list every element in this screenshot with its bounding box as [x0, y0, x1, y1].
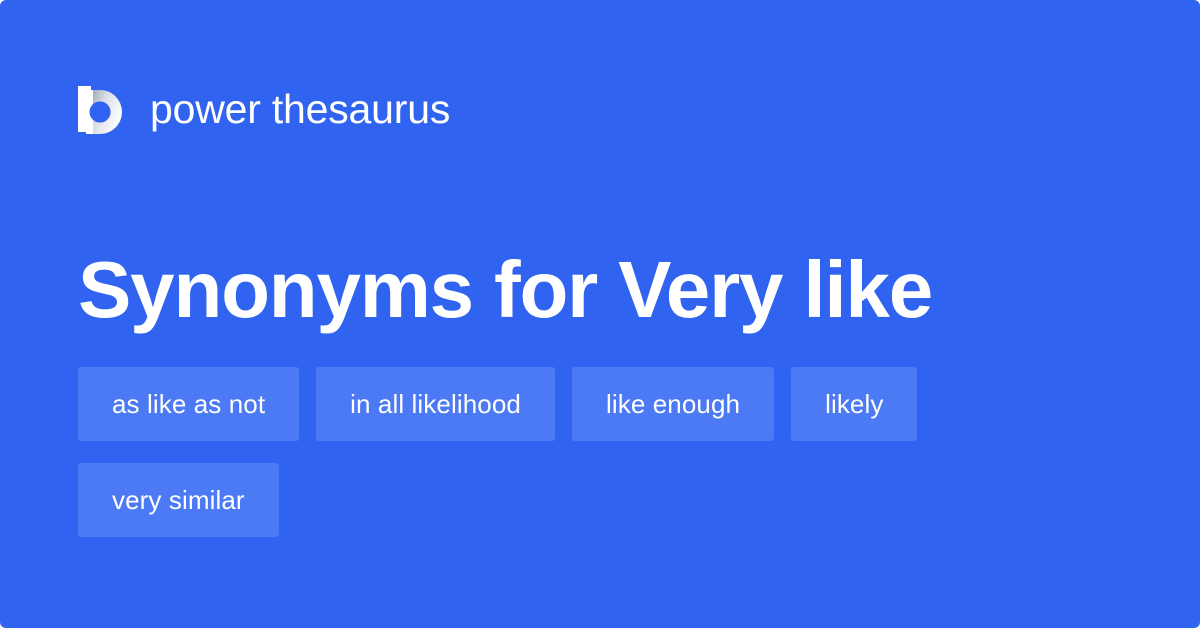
power-thesaurus-share-card: Power Thesaurus Synonyms for Very like a…: [0, 0, 1200, 628]
brand-name: Power Thesaurus: [150, 89, 450, 130]
synonym-chip[interactable]: likely: [791, 367, 917, 441]
synonym-chip-label: likely: [825, 391, 883, 417]
synonym-chip[interactable]: like enough: [572, 367, 774, 441]
synonym-chip[interactable]: as like as not: [78, 367, 299, 441]
synonym-chip-label: like enough: [606, 391, 740, 417]
synonym-chip-label: in all likelihood: [350, 391, 521, 417]
synonym-chip-label: very similar: [112, 487, 245, 513]
brand-lockup[interactable]: Power Thesaurus: [78, 78, 450, 140]
synonym-chip[interactable]: very similar: [78, 463, 279, 537]
synonym-chip-label: as like as not: [112, 391, 265, 417]
power-thesaurus-b-logo-icon: [78, 78, 124, 140]
page-title: Synonyms for Very like: [78, 250, 932, 330]
synonym-chip[interactable]: in all likelihood: [316, 367, 555, 441]
synonym-chip-list: as like as notin all likelihoodlike enou…: [78, 367, 1118, 537]
